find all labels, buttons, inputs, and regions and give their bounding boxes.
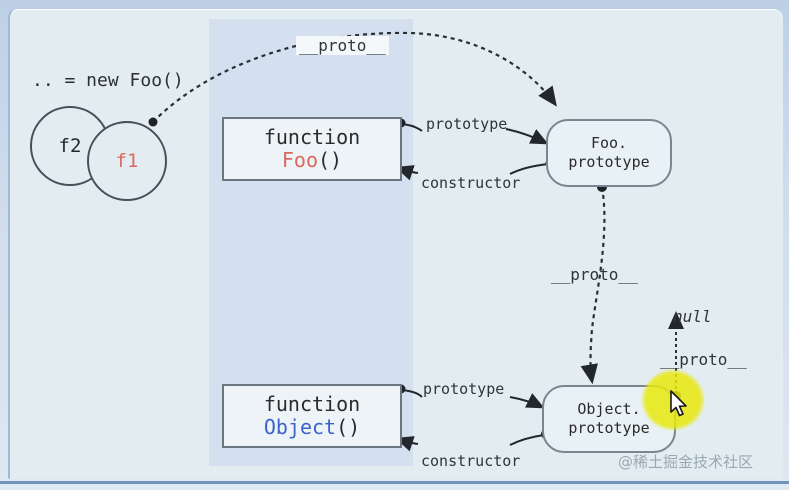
object-prototype-line1: Object. bbox=[577, 400, 640, 419]
function-object-parens: () bbox=[336, 415, 360, 439]
edge-label-prototype-object: prototype bbox=[423, 380, 504, 398]
function-object-box[interactable]: function Object() bbox=[222, 384, 402, 448]
function-keyword-2: function bbox=[264, 393, 360, 416]
function-foo-box[interactable]: function Foo() bbox=[222, 117, 402, 181]
function-object-name: Object() bbox=[264, 416, 360, 439]
function-foo-name: Foo() bbox=[282, 149, 342, 172]
watermark-label: @稀土掘金技术社区 bbox=[618, 451, 753, 472]
function-foo-identifier: Foo bbox=[282, 148, 318, 172]
new-foo-annotation: .. = new Foo() bbox=[32, 70, 184, 91]
edge-label-constructor-foo: constructor bbox=[421, 174, 520, 192]
instance-circle-f1-label: f1 bbox=[116, 150, 139, 172]
edge-object-constructor bbox=[510, 435, 544, 445]
foo-prototype-line2: prototype bbox=[568, 153, 649, 172]
edge-foo-constructor bbox=[510, 164, 548, 174]
object-prototype-line2: prototype bbox=[568, 419, 649, 438]
foo-prototype-box[interactable]: Foo. prototype bbox=[546, 119, 672, 187]
edge-label-prototype-foo: prototype bbox=[426, 115, 507, 133]
edge-foo-prototype-arrow bbox=[506, 129, 546, 143]
anchor-f1-proto bbox=[149, 118, 158, 127]
edge-fooprototype-proto-objectprototype bbox=[591, 187, 605, 381]
edge-label-constructor-object: constructor bbox=[421, 452, 520, 470]
foo-prototype-line1: Foo. bbox=[591, 134, 627, 153]
instance-circle-f1[interactable]: f1 bbox=[87, 121, 167, 201]
function-keyword: function bbox=[264, 126, 360, 149]
window-bottom-strip bbox=[0, 484, 789, 490]
function-object-identifier: Object bbox=[264, 415, 336, 439]
instance-circle-f2-label: f2 bbox=[59, 135, 82, 157]
diagram-canvas: f2 f1 .. = new Foo() function Foo() func… bbox=[8, 8, 783, 479]
screenshot-stage: f2 f1 .. = new Foo() function Foo() func… bbox=[0, 0, 789, 490]
mouse-cursor-icon bbox=[669, 390, 691, 420]
edge-object-prototype-arrow bbox=[510, 397, 542, 407]
edge-label-proto-middle: __proto__ bbox=[551, 265, 638, 284]
function-foo-parens: () bbox=[318, 148, 342, 172]
edge-label-proto-null: __proto__ bbox=[660, 350, 747, 369]
null-terminal-label: null bbox=[673, 307, 712, 326]
edge-label-proto-top: __proto__ bbox=[296, 36, 389, 55]
